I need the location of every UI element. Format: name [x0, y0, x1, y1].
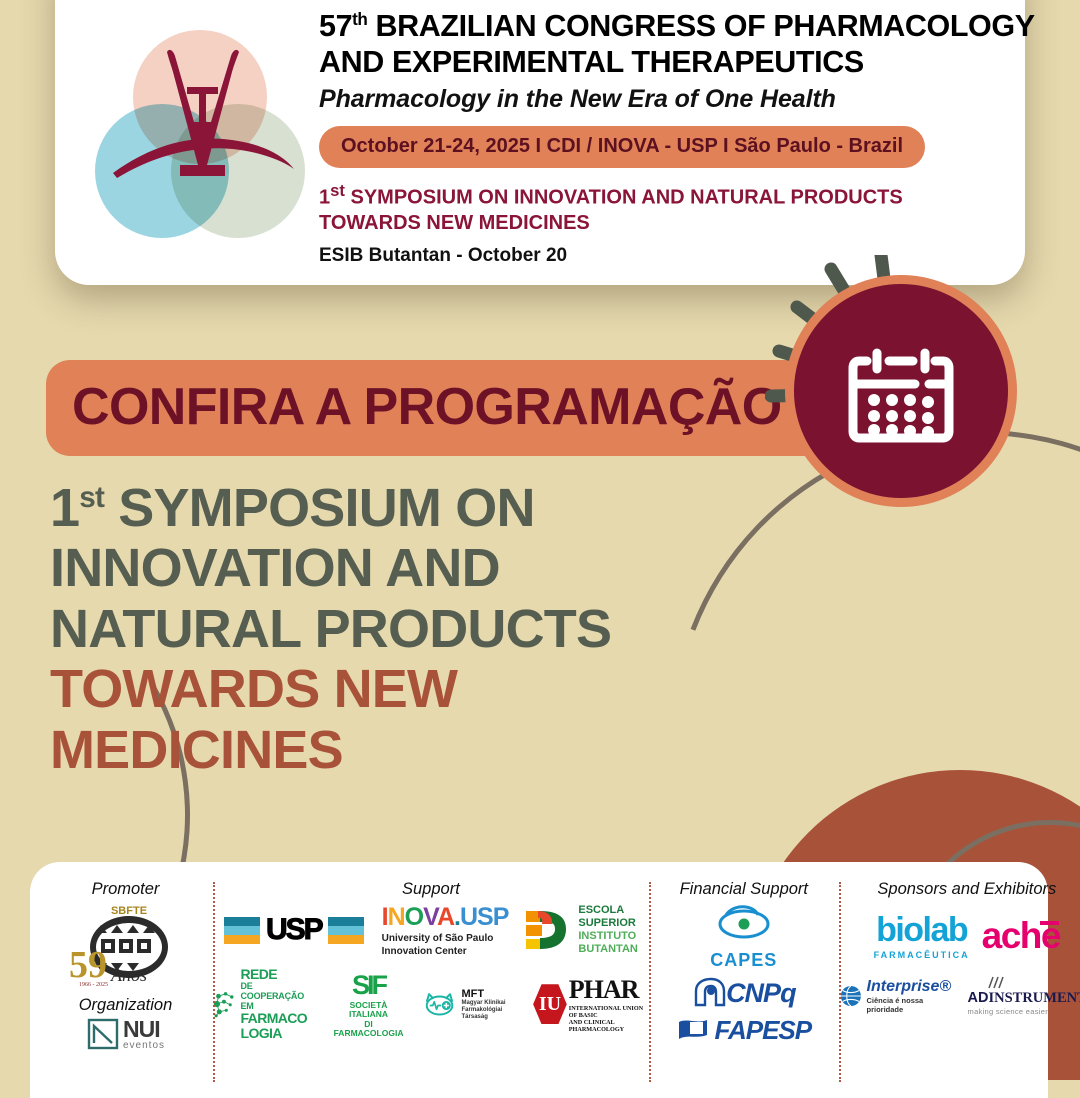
sponsor-footer: Promoter SBFTE 59 — [30, 862, 1048, 1098]
symposium-line1: 1st SYMPOSIUM ON INNOVATION AND NATURAL … — [319, 181, 1035, 211]
calendar-badge-circle — [785, 275, 1017, 507]
nui-label: NUI — [123, 1018, 165, 1041]
congress-title-line1: 57th BRAZILIAN CONGRESS OF PHARMACOLOGY — [319, 8, 1035, 44]
adi-rest: INSTRUMENTS — [988, 990, 1080, 1006]
title-line-1: 1st SYMPOSIUM ON — [50, 478, 770, 538]
adinstruments-mark-icon — [986, 976, 1008, 989]
interprise-sub: Ciência é nossa prioridade — [867, 996, 954, 1014]
inova-sub1: University of São Paulo — [382, 933, 509, 945]
cnpq-logo: CNPq — [692, 977, 796, 1009]
footer-heading-promoter: Promoter — [92, 880, 160, 899]
symposium-announcement: 1st SYMPOSIUM ON INNOVATION AND NATURAL … — [319, 181, 1035, 236]
footer-heading-support: Support — [402, 880, 460, 899]
rede-l1: REDE — [241, 967, 314, 982]
sif-logo: SIF SOCIETÀ ITALIANA DI FARMACOLOGIA — [334, 970, 404, 1039]
congress-header-card: 57th BRAZILIAN CONGRESS OF PHARMACOLOGY … — [55, 0, 1025, 285]
interprise-label: Interprise® — [867, 978, 952, 995]
fapesp-flag-icon — [677, 1017, 715, 1045]
iuphar-sub2: AND CLINICAL PHARMACOLOGY — [569, 1019, 649, 1033]
svg-text:1966 - 2025: 1966 - 2025 — [79, 982, 108, 987]
rede-farmacologia-logo: REDE DE COOPERAÇÃO EM FARMACO LOGIA — [213, 967, 314, 1041]
svg-text:Anos: Anos — [110, 965, 147, 985]
congress-date-venue-pill: October 21-24, 2025 I CDI / INOVA - USP … — [319, 126, 925, 168]
esib-text: ESCOLA SUPERIOR INSTITUTO BUTANTAN — [578, 904, 637, 956]
capes-label: CAPES — [708, 950, 780, 971]
symposium-line2: TOWARDS NEW MEDICINES — [319, 211, 1035, 236]
sbfte-59-anos-logo: SBFTE 59 Anos 1966 - 2025 — [67, 903, 185, 992]
symposium-title-block: 1st SYMPOSIUM ON INNOVATION AND NATURAL … — [50, 478, 770, 780]
sif-mark-label: SIF — [334, 970, 404, 1001]
interprise-logo: Interprise® Ciência é nossa prioridade — [839, 978, 954, 1014]
footer-heading-sponsors: Sponsors and Exhibitors — [877, 880, 1056, 899]
inova-wordmark: INOVA.USP — [382, 903, 509, 932]
nui-sub-label: eventos — [123, 1041, 165, 1051]
congress-title-line2: AND EXPERIMENTAL THERAPEUTICS — [319, 44, 1035, 80]
iuphar-hex-icon: IU — [533, 984, 567, 1024]
footer-column-promoter: Promoter SBFTE 59 — [38, 876, 213, 1098]
congress-subtitle: Pharmacology in the New Era of One Healt… — [319, 85, 1035, 114]
footer-heading-financial: Financial Support — [680, 880, 808, 899]
iuphar-sub1: INTERNATIONAL UNION OF BASIC — [569, 1005, 649, 1019]
calendar-badge — [765, 255, 1025, 515]
inova-sub2: Innovation Center — [382, 946, 509, 958]
adi-sub: making science easier — [968, 1007, 1080, 1016]
svg-text:SBFTE: SBFTE — [110, 905, 146, 917]
mft-sub1: Magyar Klinikai — [462, 1000, 514, 1007]
fapesp-label: FAPESP — [715, 1015, 812, 1046]
adinstruments-text: ADINSTRUMENTS — [968, 990, 1080, 1007]
biolab-logo: biolab FARMACÊUTICA — [874, 911, 970, 960]
mft-cat-icon — [423, 987, 456, 1021]
capes-mark-icon — [708, 903, 780, 945]
usp-logo: USP — [224, 913, 364, 947]
sbfte-venn-logo — [95, 30, 305, 245]
adinstruments-logo: ADINSTRUMENTS making science easier — [968, 976, 1080, 1016]
mft-label: MFT — [462, 988, 485, 1000]
rede-l3: FARMACO — [241, 1011, 314, 1026]
ache-logo: ache — [982, 915, 1060, 957]
biolab-label: biolab — [874, 911, 970, 950]
footer-heading-organization: Organization — [79, 996, 173, 1015]
adi-bold: AD — [968, 990, 989, 1006]
phar-label: PHAR — [569, 975, 639, 1004]
sbfte-emblem-icon: SBFTE 59 Anos 1966 - 2025 — [67, 903, 185, 987]
esib-mark-icon — [526, 909, 572, 951]
title-line-5: MEDICINES — [50, 720, 770, 780]
sif-l2: DI FARMACOLOGIA — [334, 1020, 404, 1039]
cnpq-mark-icon — [692, 977, 726, 1009]
title-line-3: NATURAL PRODUCTS — [50, 599, 770, 659]
usp-label: USP — [266, 913, 322, 947]
rede-network-icon — [213, 987, 237, 1021]
mft-text: MFT Magyar Klinikai Farmakológiai Társas… — [462, 988, 514, 1020]
title-line-2: INNOVATION AND — [50, 538, 770, 598]
esib-l4: BUTANTAN — [578, 943, 637, 956]
rede-l4: LOGIA — [241, 1026, 314, 1041]
title-line-4: TOWARDS NEW — [50, 659, 770, 719]
nui-mark-icon — [86, 1017, 120, 1051]
iuphar-text: PHAR INTERNATIONAL UNION OF BASIC AND CL… — [569, 975, 649, 1034]
mft-sub2: Farmakológiai Társaság — [462, 1007, 514, 1020]
rede-text: REDE DE COOPERAÇÃO EM FARMACO LOGIA — [241, 967, 314, 1041]
svg-text:59: 59 — [69, 944, 107, 986]
mft-logo: MFT Magyar Klinikai Farmakológiai Társas… — [423, 987, 513, 1021]
escola-superior-butantan-logo: ESCOLA SUPERIOR INSTITUTO BUTANTAN — [526, 904, 637, 956]
ache-macron-icon — [1040, 921, 1059, 925]
footer-column-sponsors: Sponsors and Exhibitors biolab FARMACÊUT… — [839, 876, 1080, 1098]
cnpq-label: CNPq — [726, 978, 796, 1009]
esib-l1: ESCOLA — [578, 904, 637, 917]
capes-logo: CAPES — [708, 903, 780, 971]
footer-column-financial: Financial Support CAPES CNPq FAPESP — [649, 876, 839, 1098]
esib-l2: SUPERIOR — [578, 917, 637, 930]
usp-bars-icon — [224, 917, 260, 944]
usp-bars-icon-2 — [328, 917, 364, 944]
fapesp-logo: FAPESP — [677, 1015, 812, 1046]
footer-column-support: Support USP INOVA.USP University of São … — [213, 876, 649, 1098]
interprise-globe-icon — [839, 983, 863, 1009]
inova-usp-logo: INOVA.USP University of São Paulo Innova… — [382, 903, 509, 957]
iuphar-logo: IU PHAR INTERNATIONAL UNION OF BASIC AND… — [533, 975, 649, 1034]
biolab-sub: FARMACÊUTICA — [874, 950, 970, 960]
rede-l2: DE COOPERAÇÃO EM — [241, 981, 305, 1010]
interprise-text: Interprise® Ciência é nossa prioridade — [867, 978, 954, 1014]
esib-l3: INSTITUTO — [578, 930, 637, 943]
calendar-icon — [837, 327, 965, 455]
congress-header-text: 57th BRAZILIAN CONGRESS OF PHARMACOLOGY … — [305, 8, 1035, 267]
nui-eventos-logo: NUI eventos — [86, 1017, 165, 1051]
butantan-a-glyph-icon — [95, 30, 305, 245]
sif-l1: SOCIETÀ ITALIANA — [334, 1001, 404, 1020]
